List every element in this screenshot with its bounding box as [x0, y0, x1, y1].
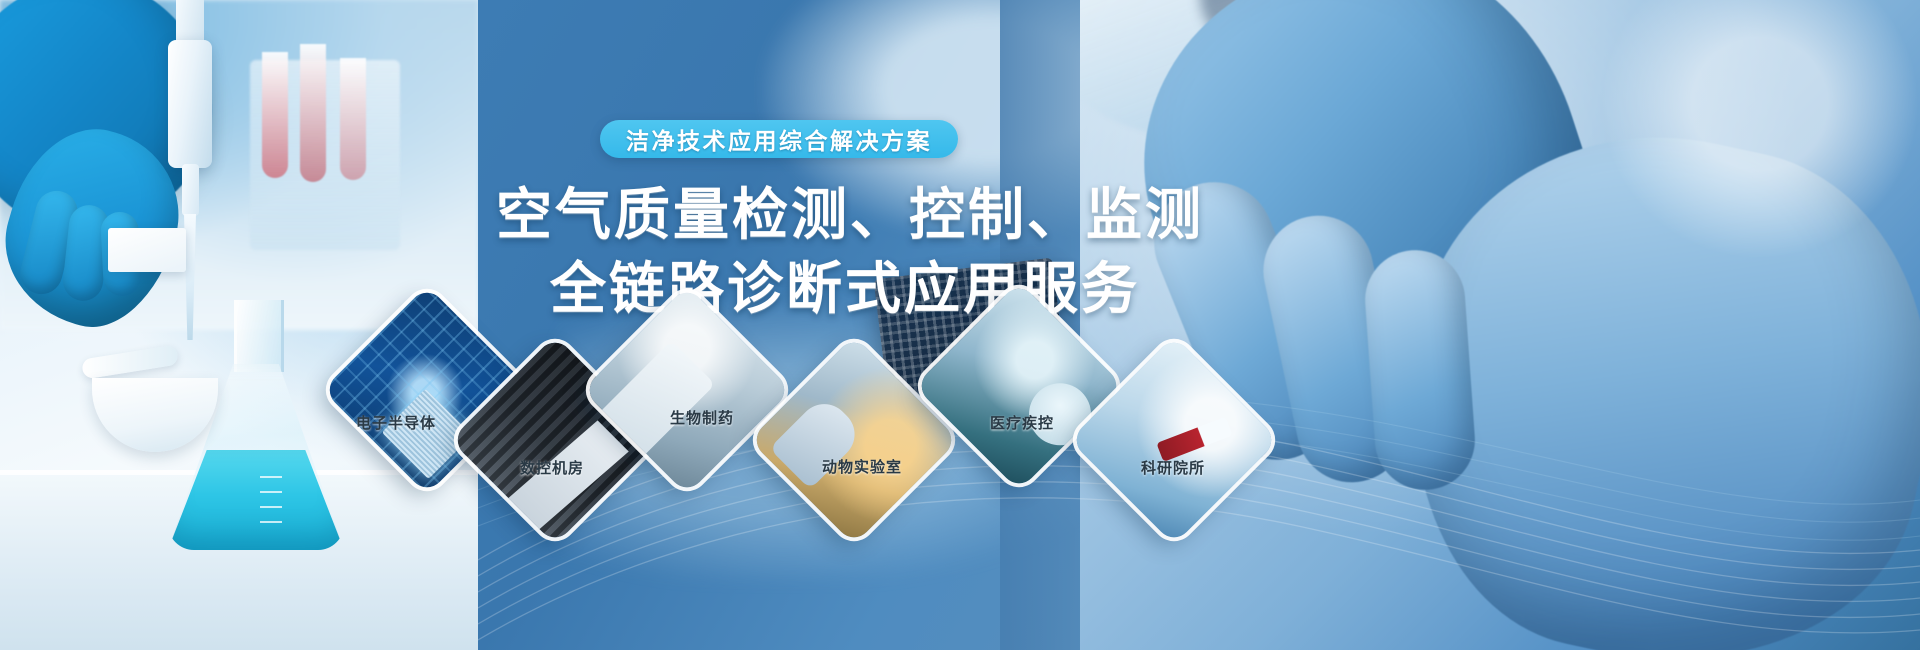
tile-label-biopharma: 生物制药: [670, 407, 734, 428]
hero-banner: 洁净技术应用综合解决方案 空气质量检测、控制、监测 全链路诊断式应用服务 电子半…: [0, 0, 1920, 650]
tile-label-semiconductor: 电子半导体: [356, 412, 436, 433]
industry-tile-row: 电子半导体 数控机房 生物制药 动物实验室 医疗疾控 科研院所: [0, 0, 1920, 650]
tile-animal-lab[interactable]: [749, 335, 958, 544]
tile-label-research-institute: 科研院所: [1141, 457, 1205, 478]
tile-label-medical-cdc: 医疗疾控: [990, 412, 1054, 433]
tile-label-animal-lab: 动物实验室: [822, 456, 902, 477]
tile-label-data-center: 数控机房: [520, 457, 584, 478]
